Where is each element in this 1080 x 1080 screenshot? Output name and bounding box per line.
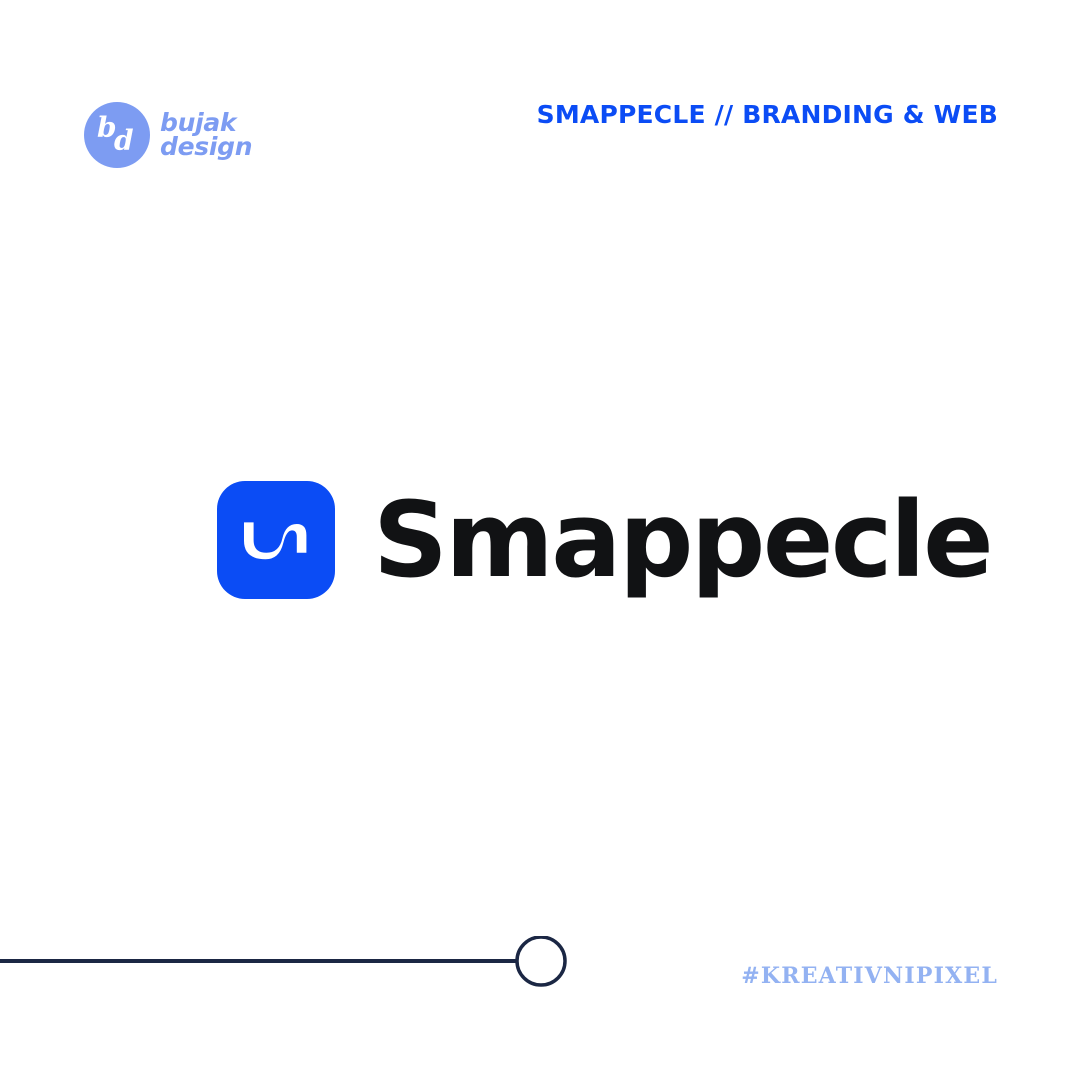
studio-logo-lockup[interactable]: b d bujak design <box>84 102 252 168</box>
project-caption: SMAPPECLE // BRANDING & WEB <box>537 100 998 129</box>
badge-letter-d: d <box>114 127 134 155</box>
hashtag-label: #KREATIVNIPIXEL <box>741 963 998 989</box>
studio-logo-wordmark: bujak design <box>160 111 252 159</box>
brand-wordmark: Smappecle <box>373 488 991 592</box>
smappecle-app-icon[interactable] <box>217 481 335 599</box>
wave-squiggle-icon <box>236 500 316 580</box>
slide-canvas: b d bujak design SMAPPECLE // BRANDING &… <box>0 0 1080 1080</box>
slider-rule-svg <box>0 936 600 992</box>
brand-lockup: Smappecle <box>217 481 991 599</box>
studio-name-line-2: design <box>160 135 252 159</box>
rule-knob-icon[interactable] <box>517 937 565 985</box>
slider-rule-decoration <box>0 936 600 992</box>
studio-logo-badge-icon: b d <box>84 102 150 168</box>
